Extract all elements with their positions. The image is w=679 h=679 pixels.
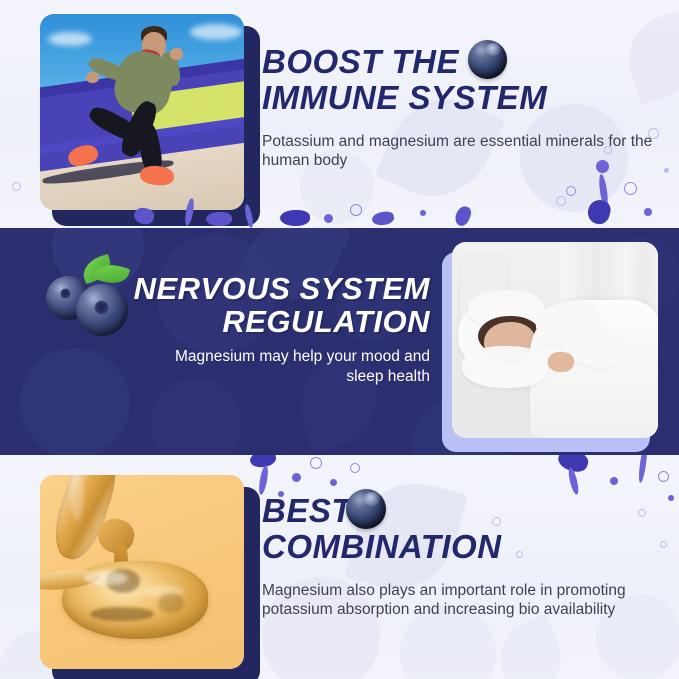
combination-title-line2: COMBINATION [262,531,502,563]
blueberry-icon [468,40,507,79]
runner-photo-card [40,14,248,214]
bubble-icon [12,182,21,191]
immune-title-line1: BOOST THE [262,46,459,78]
honey-dropper-photo [40,475,244,669]
panel-immune: BOOST THE IMMUNE SYSTEM Potassium and ma… [0,0,679,228]
immune-text-block: BOOST THE IMMUNE SYSTEM Potassium and ma… [262,46,662,171]
sleeping-photo-card [452,242,662,442]
combination-title-line1: BEST [262,495,352,527]
nervous-text-block: NERVOUS SYSTEM REGULATION Magnesium may … [118,274,430,386]
nervous-body-line2: sleep health [118,367,430,387]
combination-text-block: BEST COMBINATION Magnesium also plays an… [262,495,666,620]
nervous-body-line1: Magnesium may help your mood and [118,347,430,367]
immune-title-line2: IMMUNE SYSTEM [262,82,547,114]
honey-photo-content [40,475,244,669]
bubble-icon [556,196,566,206]
honey-photo-card [40,475,252,677]
sleeping-photo-content [452,242,658,438]
blueberry-icon [346,489,386,529]
panel-nervous: NERVOUS SYSTEM REGULATION Magnesium may … [0,228,679,455]
nervous-title-line1: NERVOUS SYSTEM [118,274,430,304]
nervous-title-line2: REGULATION [118,307,430,337]
panel-combination: BEST COMBINATION Magnesium also plays an… [0,455,679,679]
bubble-icon [664,168,669,173]
infographic-page: BOOST THE IMMUNE SYSTEM Potassium and ma… [0,0,679,679]
immune-body-text: Potassium and magnesium are essential mi… [262,132,660,171]
sleeping-woman-photo [452,242,658,438]
runner-photo [40,14,244,210]
combination-body-text: Magnesium also plays an important role i… [262,581,664,620]
watermark-leaf-icon [489,614,573,679]
runner-photo-content [40,14,244,210]
